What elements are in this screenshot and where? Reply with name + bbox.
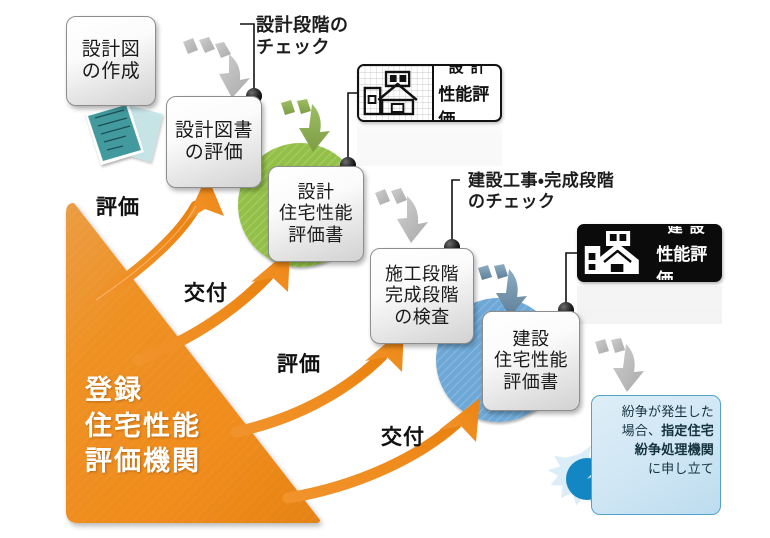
process-box-design-drawing[interactable]: 設計図 の作成 (66, 16, 156, 106)
grey-arrow-1 (183, 37, 250, 98)
process-box-design-cert[interactable]: 設計 住宅性能 評価書 (268, 166, 364, 262)
flow-label-issue-1: 交付 (184, 277, 228, 307)
badge-top-text: 設計 (442, 64, 493, 78)
dispute-line-4: に申し立て (598, 460, 714, 479)
dispute-line-2-plain: 場合、 (622, 423, 662, 438)
badge-text-pane: 設計 性能評価 (434, 66, 500, 120)
dispute-line-2-bold: 指定住宅 (661, 423, 714, 438)
process-box-construction-inspect[interactable]: 施工段階 完成段階 の検査 (370, 248, 474, 344)
process-box-design-doc-eval[interactable]: 設計図書 の評価 (166, 96, 262, 188)
process-box-label: 設計 住宅性能 評価書 (279, 182, 353, 246)
dispute-resolution-note[interactable]: 紛争が発生した 場合、指定住宅 紛争処理機関 に申し立て (591, 395, 721, 515)
process-box-label: 施工段階 完成段階 の検査 (385, 264, 459, 328)
house-grid-icon (359, 66, 434, 120)
callout-construction-stage-check: 建設工事・完成段階 のチェック (468, 170, 614, 212)
connector-construction-badge (558, 253, 577, 318)
grey-arrow-2 (375, 188, 428, 243)
registered-evaluation-body-label: 登録 住宅性能 評価機関 (85, 373, 201, 480)
dispute-line-1: 紛争が発生した (598, 403, 714, 422)
callout-design-stage-check: 設計段階の チェック (256, 14, 349, 59)
design-performance-badge[interactable]: 設計 性能評価 (357, 64, 502, 122)
process-box-label: 設計図 の作成 (82, 39, 141, 84)
dispute-line-3-bold: 紛争処理機関 (635, 442, 714, 457)
process-box-construction-cert[interactable]: 建設 住宅性能 評価書 (482, 311, 580, 411)
grey-arrow-3 (595, 338, 644, 392)
connector-design-badge (340, 93, 357, 173)
process-box-label: 設計図書 の評価 (175, 120, 253, 165)
house-solid-icon (579, 226, 652, 280)
flow-label-eval-1: 評価 (96, 191, 140, 221)
process-box-label: 建設 住宅性能 評価書 (494, 329, 568, 393)
flow-label-eval-2: 評価 (277, 348, 321, 378)
badge-bottom-text: 性能評価 (438, 78, 496, 122)
construction-performance-badge[interactable]: 建設 性能評価 (577, 224, 722, 282)
badge-text-pane: 建設 性能評価 (652, 226, 720, 280)
badge-top-text: 建設 (661, 224, 712, 238)
documents-icon (85, 101, 163, 165)
badge-bottom-text: 性能評価 (656, 238, 716, 282)
connector-construction-stage (444, 180, 460, 255)
dispute-line-2: 場合、指定住宅 (598, 422, 714, 441)
diagram-canvas: 設計図 の作成 設計図書 の評価 設計 住宅性能 評価書 施工段階 完成段階 の… (0, 0, 770, 538)
flow-label-issue-2: 交付 (381, 421, 425, 451)
dispute-line-3: 紛争処理機関 (598, 441, 714, 460)
